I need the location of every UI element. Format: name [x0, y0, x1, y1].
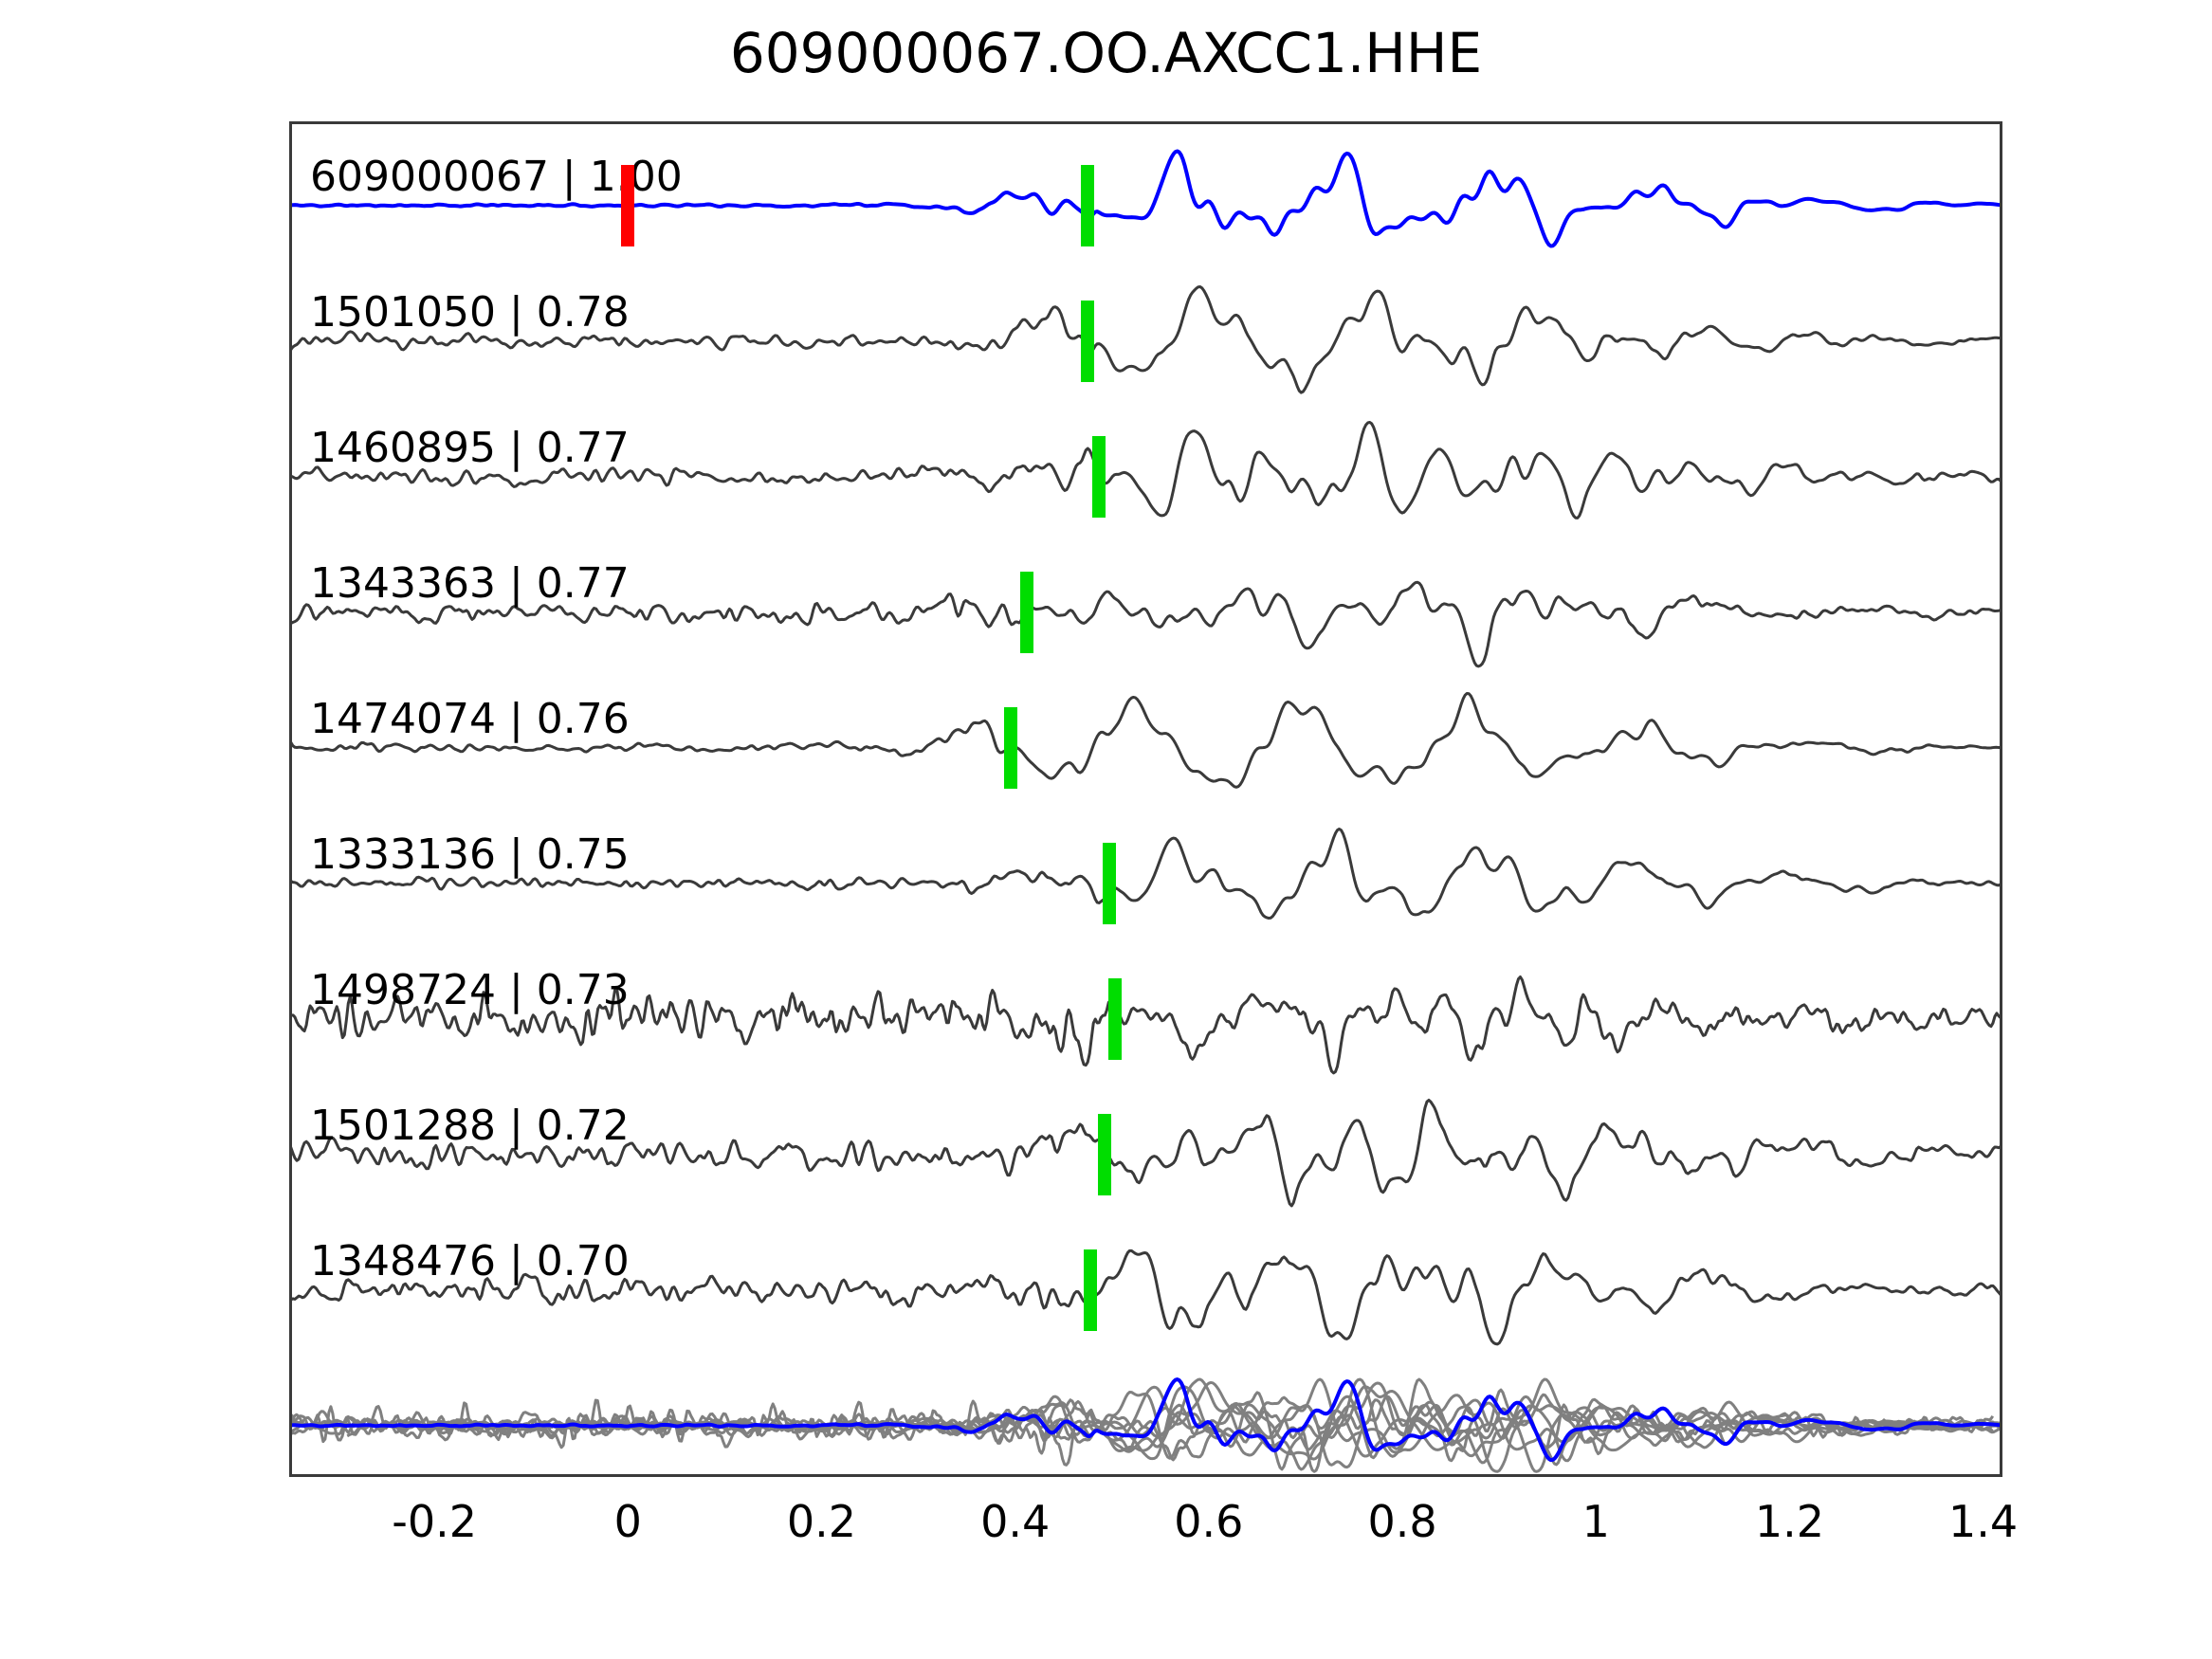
trace-label: 1474074 | 0.76	[310, 699, 630, 740]
x-tick-label: 0	[614, 1496, 642, 1547]
origin-marker	[621, 165, 634, 246]
x-tick-marks	[434, 121, 1983, 1477]
trace-label: 1348476 | 0.70	[310, 1241, 630, 1283]
x-tick-label: 1	[1582, 1496, 1610, 1547]
overlay-trace	[289, 1379, 1993, 1461]
detection-marker	[1081, 301, 1094, 382]
detection-marker	[1020, 572, 1033, 653]
trace-label: 1498724 | 0.73	[310, 970, 630, 1012]
x-tick-label: 0.6	[1174, 1496, 1243, 1547]
detection-marker	[1084, 1249, 1097, 1331]
x-tick-label: 0.8	[1367, 1496, 1436, 1547]
trace-label: 1501288 | 0.72	[310, 1105, 630, 1147]
x-tick-label: 1.2	[1755, 1496, 1824, 1547]
detection-marker	[1081, 165, 1094, 246]
trace-label: 1501050 | 0.78	[310, 292, 630, 334]
x-tick-label: 1.4	[1948, 1496, 2018, 1547]
trace-label: 1460895 | 0.77	[310, 428, 630, 469]
x-tick-label: -0.2	[392, 1496, 477, 1547]
x-axis-tick-labels: -0.200.20.40.60.811.21.4	[289, 1496, 2002, 1562]
trace-label: 1333136 | 0.75	[310, 834, 630, 876]
plot-area: 609000067 | 1.001501050 | 0.781460895 | …	[289, 121, 2002, 1477]
detection-marker	[1103, 843, 1116, 924]
detection-marker	[1098, 1114, 1111, 1195]
detection-marker	[1004, 707, 1017, 789]
detection-marker	[1092, 436, 1106, 518]
overlay-template-trace	[289, 1379, 2002, 1460]
x-tick-label: 0.4	[980, 1496, 1050, 1547]
trace-label: 1343363 | 0.77	[310, 563, 630, 605]
detection-marker	[1108, 978, 1122, 1060]
figure-root: 609000067.OO.AXCC1.HHE 609000067 | 1.001…	[0, 0, 2212, 1659]
x-tick-label: 0.2	[787, 1496, 856, 1547]
page-title: 609000067.OO.AXCC1.HHE	[0, 21, 2212, 85]
